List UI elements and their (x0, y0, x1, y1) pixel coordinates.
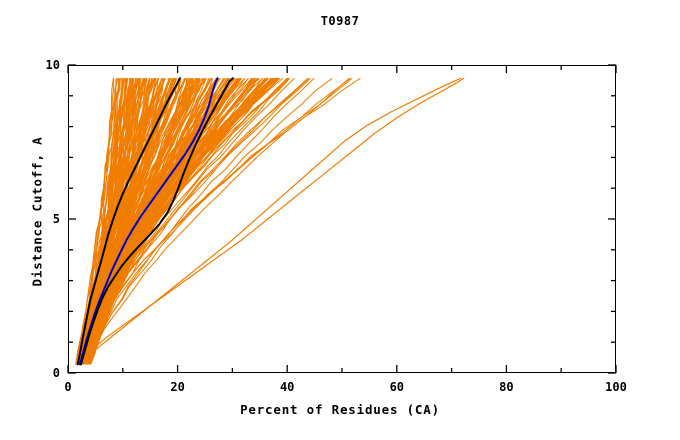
y-tick-label: 0 (34, 366, 60, 380)
plot-canvas (69, 66, 615, 372)
x-tick-label: 100 (605, 380, 627, 394)
chart-figure: T0987 020406080100 0510 Percent of Resid… (0, 0, 680, 440)
y-axis-title: Distance Cutoff, A (30, 82, 45, 342)
x-tick-label: 20 (170, 380, 184, 394)
x-tick-label: 40 (280, 380, 294, 394)
x-axis-title: Percent of Residues (CA) (0, 402, 680, 417)
page-title: T0987 (0, 14, 680, 28)
x-tick-label: 0 (64, 380, 71, 394)
y-tick-label: 10 (34, 58, 60, 72)
plot-area (68, 65, 616, 373)
x-tick-label: 60 (390, 380, 404, 394)
x-tick-label: 80 (499, 380, 513, 394)
ensemble-curves (76, 78, 464, 364)
